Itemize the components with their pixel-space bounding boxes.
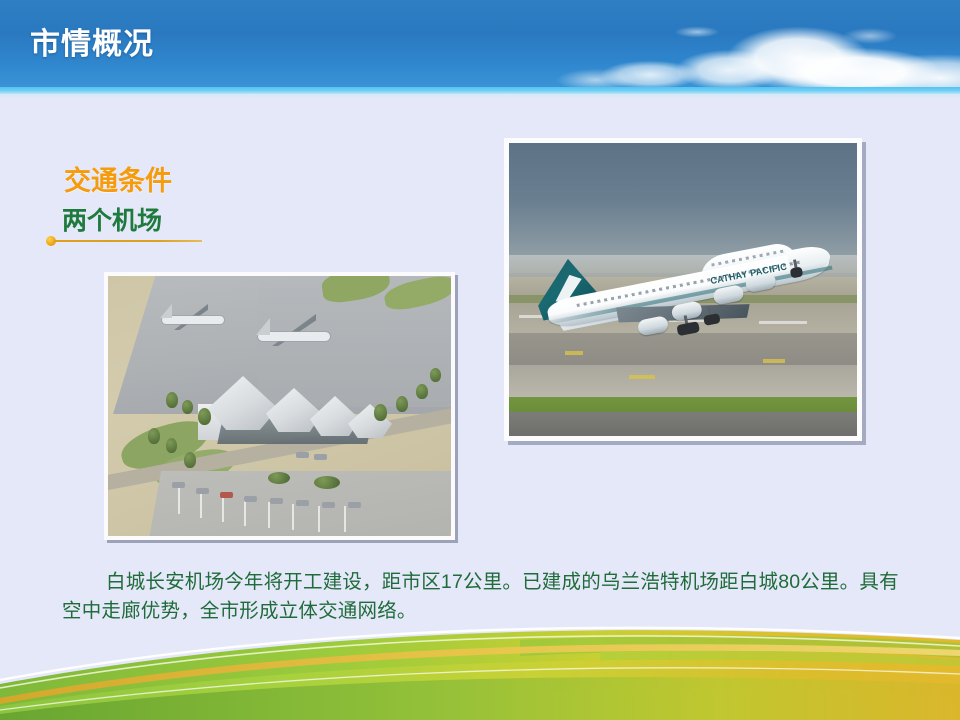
terminal-building <box>194 374 394 452</box>
tree <box>184 452 196 468</box>
wave-highlight-line <box>0 636 960 688</box>
section-heading-primary: 交通条件 <box>64 168 172 195</box>
tree <box>148 428 160 444</box>
parked-car <box>314 454 327 460</box>
shrub <box>268 472 290 484</box>
parking-stall-line <box>200 492 202 518</box>
header-pale-stripe <box>0 94 960 98</box>
parked-car <box>172 482 185 488</box>
wave-gold-ribbon <box>0 644 960 704</box>
shrub <box>314 476 340 489</box>
landing-gear-bogie <box>676 321 700 336</box>
parking-stall-line <box>344 506 346 532</box>
wave-highlight-line <box>0 668 960 710</box>
tree <box>182 400 193 414</box>
heading-underline-rule <box>54 240 202 242</box>
page-title: 市情概况 <box>30 30 154 60</box>
parked-car <box>296 500 309 506</box>
header-accent-stripe <box>0 87 960 94</box>
tree <box>374 404 387 421</box>
wave-layer-front <box>0 677 960 720</box>
parking-stall-line <box>318 506 320 532</box>
footer-wave-decoration <box>0 610 960 720</box>
parked-car <box>348 502 361 508</box>
tree <box>430 368 441 382</box>
tree <box>166 392 178 408</box>
taxiway-marking <box>763 359 785 363</box>
parking-stall-line <box>268 502 270 528</box>
sky-clouds-image <box>400 0 960 87</box>
wave-banding <box>520 636 960 720</box>
parked-car <box>196 488 209 494</box>
landing-gear-bogie <box>703 313 721 326</box>
parking-stall-line <box>244 500 246 526</box>
parking-stall-line <box>222 496 224 522</box>
tree <box>198 408 211 425</box>
tree <box>166 438 177 453</box>
parked-car <box>244 496 257 502</box>
terminal-image-content <box>108 276 451 536</box>
slide-header: 市情概况 <box>0 0 960 87</box>
parked-car <box>322 502 335 508</box>
parking-stall-line <box>292 504 294 530</box>
terminal-roof-peak <box>266 388 322 432</box>
photo-airport-terminal <box>104 272 455 540</box>
parked-car <box>270 498 283 504</box>
tree <box>396 396 408 412</box>
section-heading-secondary: 两个机场 <box>62 209 162 234</box>
parked-car <box>296 452 309 458</box>
parked-car <box>220 492 233 498</box>
wave-layer-base <box>0 630 960 720</box>
slide-canvas: 市情概况 交通条件 两个机场 <box>0 0 960 720</box>
photo-cathay-pacific-747: CATHAY PACIFIC <box>504 138 862 441</box>
tree <box>416 384 428 399</box>
wave-highlight-line <box>0 628 960 680</box>
plane-photo-foreground-road <box>509 412 857 436</box>
green-wave-svg <box>0 610 960 720</box>
body-paragraph: 白城长安机场今年将开工建设，距市区17公里。已建成的乌兰浩特机场距白城80公里。… <box>62 568 910 626</box>
taxiway-marking <box>629 375 655 379</box>
parking-stall-line <box>178 488 180 514</box>
wave-layer-mid <box>0 660 960 720</box>
